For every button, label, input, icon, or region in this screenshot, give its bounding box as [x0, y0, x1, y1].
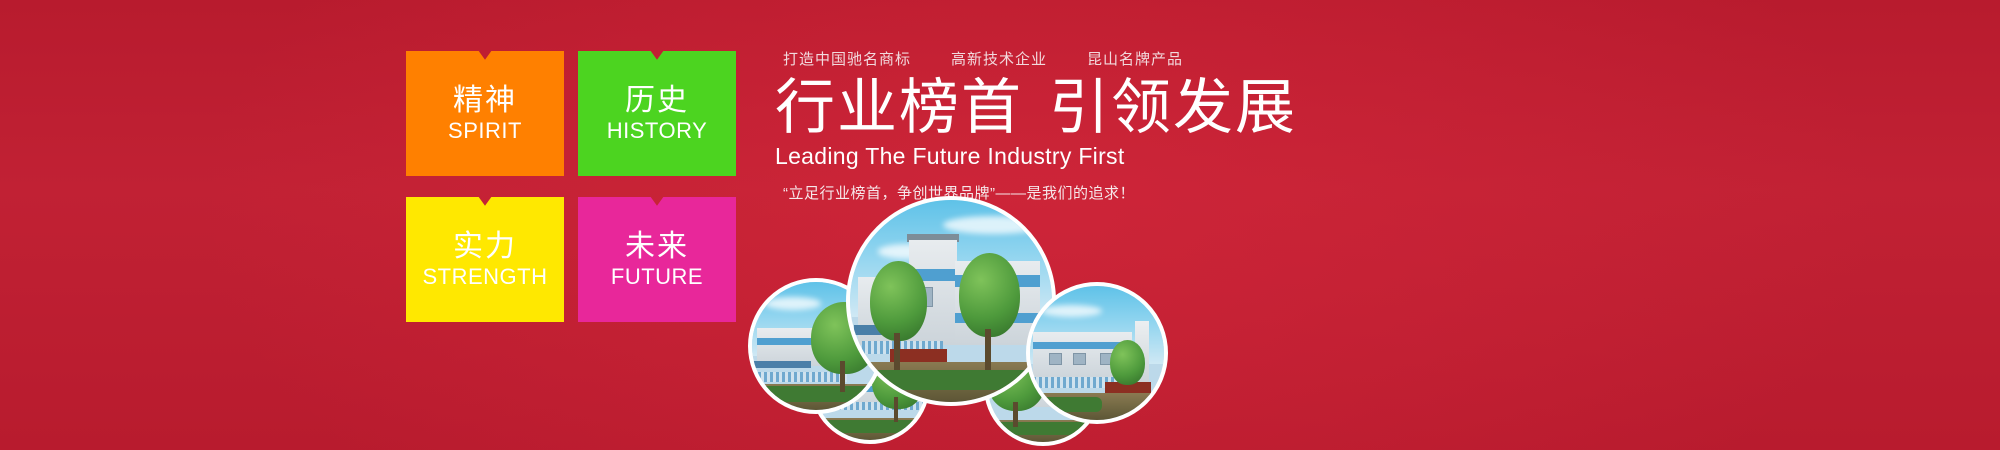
- window: [1073, 353, 1086, 365]
- tagline-2: 高新技术企业: [951, 48, 1047, 69]
- cloud-photo-collage: [748, 196, 1168, 450]
- tree-trunk: [1013, 402, 1017, 426]
- headline-segment-1: 行业榜首: [775, 74, 1023, 141]
- tagline-3: 昆山名牌产品: [1087, 48, 1183, 69]
- tile-strength[interactable]: 实力 STRENGTH: [406, 197, 564, 322]
- promo-banner: 精神 SPIRIT 历史 HISTORY 实力 STRENGTH 未来 FUTU…: [0, 0, 2000, 450]
- tile-grid: 精神 SPIRIT 历史 HISTORY 实力 STRENGTH 未来 FUTU…: [406, 51, 736, 322]
- roof: [752, 361, 811, 367]
- fence: [752, 372, 847, 382]
- tile-spirit[interactable]: 精神 SPIRIT: [406, 51, 564, 176]
- tile-label-en: STRENGTH: [423, 265, 548, 288]
- tile-history[interactable]: 历史 HISTORY: [578, 51, 736, 176]
- hedge: [818, 420, 919, 433]
- tree-trunk: [985, 329, 991, 369]
- tile-label-cn: 实力: [453, 231, 517, 263]
- factory-scene: [850, 200, 1052, 402]
- tile-label-en: HISTORY: [607, 119, 708, 142]
- hedge: [858, 370, 1040, 390]
- subheadline: Leading The Future Industry First: [775, 143, 1475, 170]
- window: [1049, 353, 1062, 365]
- hedge: [990, 422, 1091, 435]
- photo-lobe-center: [846, 196, 1056, 406]
- tile-label-cn: 精神: [453, 85, 517, 117]
- headline-segment-2: 引领发展: [1049, 74, 1297, 141]
- tree-trunk: [894, 333, 900, 369]
- tile-label-en: FUTURE: [611, 265, 703, 288]
- copy-block: 打造中国驰名商标 高新技术企业 昆山名牌产品 行业榜首引领发展 Leading …: [775, 48, 1475, 203]
- tile-future[interactable]: 未来 FUTURE: [578, 197, 736, 322]
- photo-lobe-right: [1026, 282, 1168, 424]
- tree: [1110, 340, 1145, 386]
- tile-label-en: SPIRIT: [448, 119, 522, 142]
- tile-label-cn: 历史: [625, 85, 689, 117]
- tagline-1: 打造中国驰名商标: [783, 48, 911, 69]
- hedge: [1033, 397, 1103, 412]
- tagline-row: 打造中国驰名商标 高新技术企业 昆山名牌产品: [775, 48, 1475, 69]
- factory-scene: [1030, 286, 1164, 420]
- tree: [870, 261, 927, 342]
- tile-label-cn: 未来: [625, 231, 689, 263]
- headline: 行业榜首引领发展: [775, 76, 1475, 139]
- cloud-wisp: [1041, 305, 1103, 317]
- tree: [959, 253, 1020, 338]
- tree-trunk: [840, 361, 845, 392]
